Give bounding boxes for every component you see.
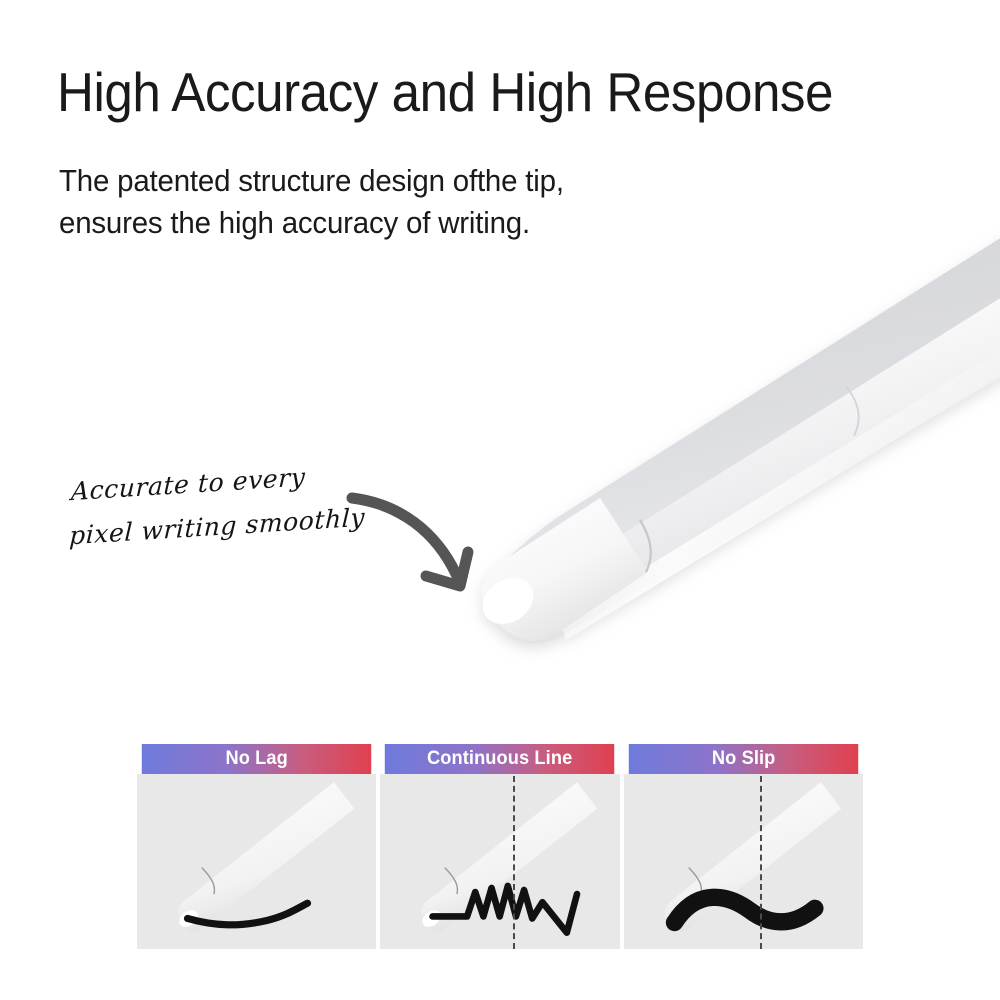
panel-divider-2	[760, 776, 762, 949]
panel-body-no-slip	[624, 774, 863, 949]
stylus-pen-icon	[176, 782, 354, 931]
comparison-panel-continuous-line: Continuous Line	[380, 744, 619, 949]
panel-label: No Lag	[225, 748, 287, 770]
panel-body-continuous-line	[380, 774, 619, 949]
panel-body-no-lag	[137, 774, 376, 949]
comparison-panel-no-slip: No Slip	[624, 744, 863, 949]
comparison-panel-no-lag: No Lag	[137, 744, 376, 949]
panel-label: No Slip	[712, 748, 776, 770]
comparison-strip: No Lag Cont	[137, 744, 863, 949]
panel-header-no-lag: No Lag	[142, 744, 372, 774]
panel-label: Continuous Line	[427, 748, 572, 770]
panel-divider-1	[513, 776, 515, 949]
panel-header-no-slip: No Slip	[628, 744, 858, 774]
panel-header-continuous-line: Continuous Line	[385, 744, 615, 774]
curved-arrow-icon	[330, 470, 510, 630]
